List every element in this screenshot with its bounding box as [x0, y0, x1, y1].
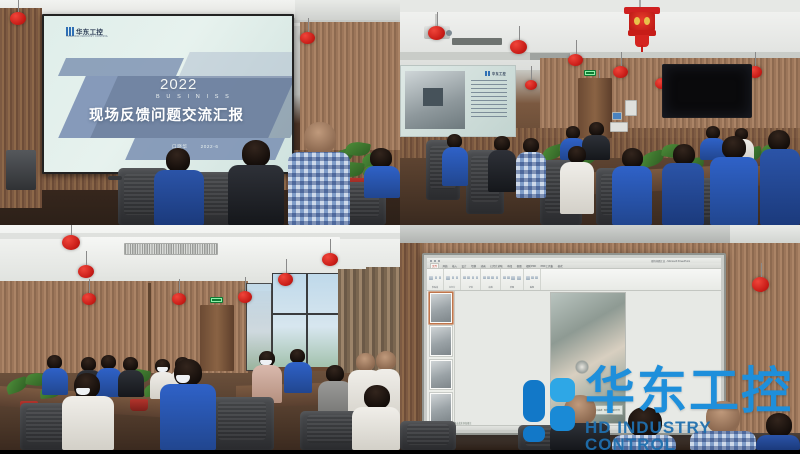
ribbon-group-paragraph[interactable]: 段落 — [481, 269, 501, 290]
layout-icon[interactable] — [452, 276, 455, 279]
notes-placeholder[interactable]: 单击此处添加备注 — [454, 421, 472, 425]
attendee-head — [622, 148, 643, 168]
attendee-head — [523, 138, 539, 153]
wall-tv — [662, 64, 752, 118]
attendee-body — [160, 384, 216, 450]
font-color-icon[interactable] — [476, 276, 479, 279]
attendee-head — [447, 134, 462, 148]
attendee-foreground — [160, 359, 216, 450]
ribbon-group-editing[interactable]: 编辑 — [524, 269, 541, 290]
attendee-head — [81, 357, 96, 371]
paste-icon[interactable] — [429, 276, 433, 280]
lantern-icon — [62, 235, 80, 250]
attendee-head — [722, 136, 746, 159]
tab-home[interactable]: 开始 — [442, 264, 449, 268]
ppt-ribbon[interactable]: 剪贴板 幻灯片 — [427, 269, 721, 291]
lantern-icon — [428, 26, 445, 40]
attendee-head — [364, 385, 390, 409]
align-center-icon[interactable] — [496, 276, 499, 279]
attendee-head — [304, 122, 336, 154]
lantern-icon — [300, 32, 315, 44]
lantern-icon — [613, 66, 628, 78]
tab-slideshow[interactable]: 幻灯片放映 — [489, 264, 504, 268]
underline-icon[interactable] — [472, 276, 475, 279]
attendee-body — [488, 150, 516, 192]
attendee-foreground — [62, 373, 114, 450]
lantern-icon — [568, 54, 583, 66]
ribbon-icons[interactable] — [463, 270, 478, 286]
ribbon-icons[interactable] — [429, 270, 441, 286]
chair — [210, 397, 274, 450]
lantern-icon — [82, 293, 96, 305]
face-mask — [260, 360, 272, 365]
attendee-body — [710, 157, 758, 225]
attendee — [284, 349, 312, 393]
slide-year: 2022 — [160, 76, 197, 93]
projector-lens-icon — [446, 30, 452, 36]
attendee-body — [662, 163, 704, 225]
lantern-icon — [510, 40, 527, 54]
attendee — [488, 136, 516, 192]
attendee-body — [118, 370, 144, 397]
face-mask — [76, 388, 90, 395]
wall-plate — [612, 112, 622, 120]
palace-lantern-icon — [622, 0, 662, 52]
slide-subtitle: B U S I N I S S — [156, 94, 231, 100]
attendee-head — [768, 130, 790, 151]
wall-sign — [610, 122, 628, 132]
reset-icon[interactable] — [456, 276, 459, 279]
slide-thumbnail-image — [431, 394, 451, 422]
attendee-head — [568, 146, 586, 163]
slide-thumbnail-image — [431, 294, 451, 322]
attendee — [288, 122, 350, 225]
projection-screen: 华东工控 — [400, 65, 516, 137]
ribbon-group-slides[interactable]: 幻灯片 — [444, 269, 461, 290]
tab-format[interactable]: 格式 — [557, 264, 564, 268]
attendee-head — [242, 140, 270, 167]
ribbon-icons[interactable] — [503, 270, 521, 286]
attendee-head — [564, 395, 596, 425]
podium — [6, 150, 36, 190]
attendee-foreground — [690, 401, 756, 450]
projector-duct — [452, 38, 502, 45]
tab-file[interactable]: 文件 — [430, 263, 439, 268]
ribbon-icons[interactable] — [526, 270, 538, 286]
select-icon[interactable] — [535, 276, 538, 279]
shape-rect-icon[interactable] — [503, 276, 506, 279]
bold-icon[interactable] — [463, 276, 466, 279]
attendee-head — [628, 407, 662, 437]
slide-thumbnail[interactable] — [429, 325, 453, 357]
attendee-body — [550, 423, 610, 450]
slide-thumbnail[interactable] — [429, 292, 453, 324]
align-left-icon[interactable] — [491, 276, 494, 279]
save-icon[interactable] — [430, 260, 432, 262]
slide-thumbnail[interactable] — [429, 359, 453, 391]
replace-icon[interactable] — [531, 276, 534, 279]
attendee — [612, 148, 652, 225]
attendee — [442, 134, 468, 186]
plant-pot — [130, 399, 148, 411]
attendee — [760, 130, 800, 225]
attendee-body — [442, 147, 468, 186]
ribbon-group-label: 字体 — [469, 286, 473, 289]
wall-panel-left-edge — [400, 243, 422, 433]
tab-animations[interactable]: 动画 — [480, 264, 487, 268]
tab-transitions[interactable]: 切换 — [470, 264, 477, 268]
lantern-icon — [278, 273, 293, 286]
ribbon-group-label: 段落 — [489, 286, 493, 289]
ribbon-group-drawing[interactable]: 绘图 — [501, 269, 524, 290]
ceiling-beam-edge — [295, 0, 400, 20]
chair — [400, 421, 456, 450]
lantern-icon — [78, 265, 94, 278]
attendee-body — [364, 166, 400, 198]
lantern-icon — [10, 12, 26, 25]
attendee-foreground — [756, 413, 800, 450]
attendee-body — [284, 362, 312, 393]
attendee-body — [756, 435, 800, 450]
ac-vent — [124, 243, 218, 255]
new-slide-icon[interactable] — [446, 276, 450, 280]
ceiling-beam — [400, 0, 800, 12]
attendee-body — [560, 162, 594, 214]
slide-title: 现场反馈问题交流汇报 — [89, 104, 244, 125]
lantern-icon — [322, 253, 338, 266]
attendee-head — [166, 148, 190, 172]
attendee-head — [370, 148, 392, 168]
slide-thumbnail-panel[interactable] — [427, 291, 455, 426]
attendee — [228, 140, 284, 225]
attendee-body — [760, 149, 800, 225]
lantern-icon — [238, 291, 252, 303]
attendee-head — [673, 144, 695, 165]
collage-quadrant-bottom-right: 现场问题汇总 - Microsoft PowerPoint 文件 开始 插入 设… — [400, 225, 800, 450]
lantern-icon — [752, 277, 769, 292]
find-icon[interactable] — [526, 276, 530, 280]
window-mullion — [272, 313, 340, 315]
tab-design[interactable]: 设计 — [461, 264, 468, 268]
presenter-head — [589, 122, 604, 136]
lantern-icon — [172, 293, 186, 305]
tab-insert[interactable]: 插入 — [451, 264, 458, 268]
attendee-body — [612, 435, 676, 450]
attendee-foreground — [352, 385, 400, 450]
shape-arrow-icon[interactable] — [507, 276, 510, 279]
slide-thumbnail-image — [431, 361, 451, 389]
attendee-body — [154, 170, 204, 225]
cut-icon[interactable] — [435, 276, 438, 279]
slide-logo: 华东工控 — [485, 71, 506, 76]
attendee-head — [123, 357, 138, 371]
shape-fill-icon[interactable] — [511, 276, 515, 280]
attendee-body — [516, 152, 546, 198]
slide-body-text — [471, 80, 507, 118]
attendee — [118, 357, 144, 397]
attendee-head — [376, 351, 396, 370]
chair — [300, 411, 360, 450]
ribbon-icons[interactable] — [483, 270, 498, 286]
attendee — [154, 148, 204, 225]
attendee — [662, 144, 704, 225]
attendee-head — [47, 355, 62, 369]
shape-effects-icon[interactable] — [517, 276, 521, 280]
ribbon-icons[interactable] — [446, 270, 458, 286]
slide-band-5 — [178, 52, 292, 78]
attendee-head — [494, 136, 510, 151]
exit-sign — [584, 70, 596, 76]
slide-band-1 — [58, 58, 184, 76]
slide-logo-text: 华东工控 — [492, 71, 506, 76]
ribbon-group-font[interactable]: 字体 — [461, 269, 481, 290]
attendee-body — [228, 165, 284, 225]
bullets-icon[interactable] — [483, 276, 486, 279]
attendee-head — [290, 349, 305, 363]
slide-logo-mark-icon — [485, 71, 490, 76]
photo-collage: 华东工控 HUADONG INDUSTRY CONTROL 2022 B U S… — [0, 0, 800, 450]
collage-quadrant-bottom-left — [0, 225, 400, 450]
exit-sign — [210, 297, 223, 303]
attendee — [362, 148, 400, 198]
attendee-head — [326, 365, 344, 382]
tab-foxit-pdf[interactable]: 福昕PDF — [525, 264, 537, 268]
attendee-head — [766, 413, 792, 437]
collage-quadrant-top-left: 华东工控 HUADONG INDUSTRY CONTROL 2022 B U S… — [0, 0, 400, 225]
attendee-body — [612, 166, 652, 225]
slide-photo-inner — [423, 88, 443, 106]
ppt-window-caption: 现场问题汇总 - Microsoft PowerPoint — [651, 259, 690, 263]
numbering-icon[interactable] — [487, 276, 490, 279]
attendee-body — [62, 396, 114, 450]
ribbon-group-label: 绘图 — [510, 286, 514, 289]
tab-review[interactable]: 审阅 — [506, 264, 513, 268]
attendee — [252, 351, 282, 403]
wall-notice — [625, 100, 637, 116]
attendee — [710, 136, 758, 225]
tab-pdf-tools[interactable]: PDF工具集 — [540, 264, 555, 268]
collage-quadrant-top-right: 华东工控 — [400, 0, 800, 225]
italic-icon[interactable] — [467, 276, 470, 279]
attendee-foreground — [550, 395, 610, 450]
slide-thumbnail[interactable] — [429, 392, 453, 424]
attendee-body — [690, 431, 756, 450]
ribbon-group-label: 剪贴板 — [432, 286, 438, 289]
redo-icon[interactable] — [438, 260, 440, 262]
copy-icon[interactable] — [439, 276, 442, 279]
attendee — [560, 146, 594, 214]
attendee-body — [352, 407, 400, 450]
attendee-foreground — [612, 407, 676, 450]
ribbon-group-label: 编辑 — [530, 286, 534, 289]
ribbon-group-label: 幻灯片 — [449, 286, 455, 289]
undo-icon[interactable] — [434, 260, 436, 262]
lantern-icon — [525, 80, 537, 90]
attendee-head — [101, 355, 116, 369]
slide-thumbnail-image — [431, 327, 451, 355]
ribbon-group-clipboard[interactable]: 剪贴板 — [427, 269, 444, 290]
slide-logo-subtext: HUADONG INDUSTRY CONTROL — [66, 35, 108, 38]
attendee — [516, 138, 546, 198]
tab-view[interactable]: 视图 — [516, 264, 523, 268]
chair-arm — [108, 176, 122, 180]
attendee-head — [706, 401, 740, 433]
attendee-body — [288, 152, 350, 225]
